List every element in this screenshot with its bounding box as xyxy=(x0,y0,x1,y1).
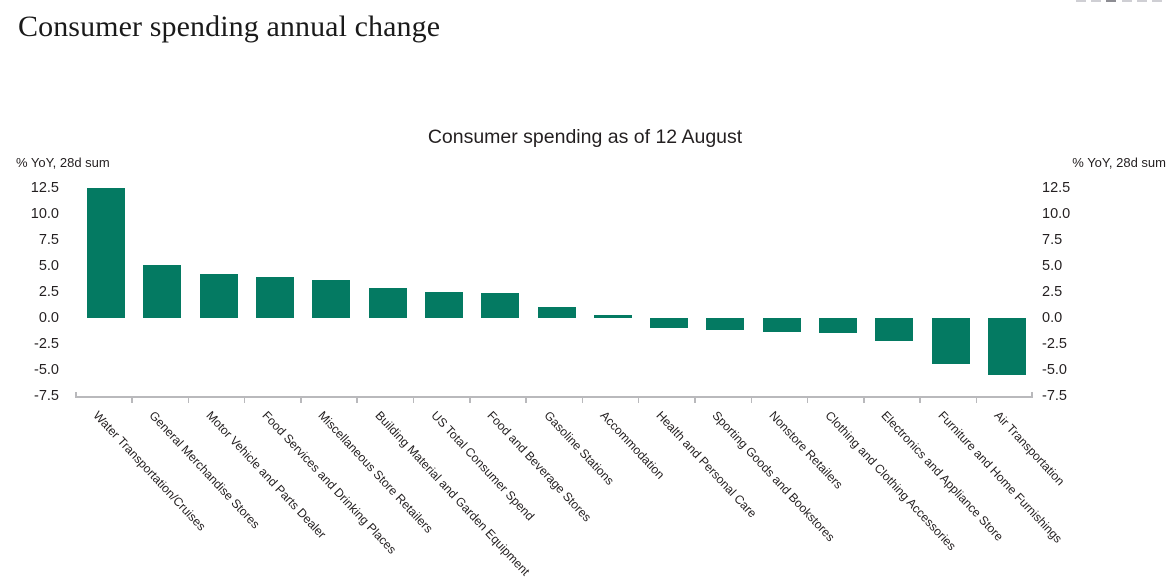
bar[interactable] xyxy=(932,318,970,364)
y-tick-label-right: 7.5 xyxy=(1042,233,1104,248)
y-tick-label-left: 10.0 xyxy=(0,207,59,222)
bar[interactable] xyxy=(706,318,744,329)
x-axis-tick xyxy=(976,397,978,403)
x-axis-tick xyxy=(525,397,527,403)
category-label: Water Transportation/Cruises xyxy=(91,409,208,533)
bar[interactable] xyxy=(312,280,350,319)
category-label: General Merchandise Stores xyxy=(148,409,263,531)
y-tick-label-left: 5.0 xyxy=(0,259,59,274)
x-axis-tick xyxy=(694,397,696,403)
x-axis-tick xyxy=(582,397,584,403)
bar[interactable] xyxy=(819,318,857,333)
bar[interactable] xyxy=(875,318,913,341)
y-tick-label-left: 2.5 xyxy=(0,285,59,300)
x-axis-tick xyxy=(863,397,865,403)
y-tick-label-right: -7.5 xyxy=(1042,389,1104,404)
bar[interactable] xyxy=(763,318,801,332)
y-tick-label-right: -5.0 xyxy=(1042,363,1104,378)
x-axis-tick xyxy=(469,397,471,403)
consumer-spending-bar-chart: Consumer spending as of 12 August % YoY,… xyxy=(0,0,1170,567)
bar[interactable] xyxy=(256,277,294,319)
y-tick-label-left: -7.5 xyxy=(0,389,59,404)
bar[interactable] xyxy=(425,292,463,318)
bar[interactable] xyxy=(538,307,576,318)
right-axis-caption: % YoY, 28d sum xyxy=(1072,155,1166,170)
y-tick-label-left: -2.5 xyxy=(0,337,59,352)
x-axis-tick xyxy=(751,397,753,403)
y-tick-label-right: 5.0 xyxy=(1042,259,1104,274)
category-label: US Total Consumer Spend xyxy=(429,409,536,523)
x-axis-tick xyxy=(244,397,246,403)
x-axis-tick xyxy=(919,397,921,403)
x-axis-tick xyxy=(413,397,415,403)
bar[interactable] xyxy=(988,318,1026,374)
bar[interactable] xyxy=(481,293,519,318)
y-tick-label-right: 0.0 xyxy=(1042,311,1104,326)
y-tick-label-right: 10.0 xyxy=(1042,207,1104,222)
category-label: Electronics and Appliance Store xyxy=(879,409,1005,543)
category-label: Food and Beverage Stores xyxy=(485,409,593,524)
bar[interactable] xyxy=(87,188,125,318)
bar[interactable] xyxy=(143,265,181,318)
x-axis-right-cap xyxy=(1031,392,1033,398)
y-tick-label-left: 12.5 xyxy=(0,181,59,196)
chart-title: Consumer spending as of 12 August xyxy=(0,126,1170,149)
x-axis-tick xyxy=(188,397,190,403)
y-tick-label-left: 7.5 xyxy=(0,233,59,248)
y-tick-label-left: -5.0 xyxy=(0,363,59,378)
category-label: Health and Personal Care xyxy=(654,409,759,520)
left-axis-caption: % YoY, 28d sum xyxy=(16,155,110,170)
x-axis-tick xyxy=(356,397,358,403)
category-label: Furniture and Home Furnishings xyxy=(936,409,1064,545)
x-axis-left-cap xyxy=(75,392,77,398)
y-tick-label-right: 2.5 xyxy=(1042,285,1104,300)
bar[interactable] xyxy=(200,274,238,319)
y-tick-label-right: 12.5 xyxy=(1042,181,1104,196)
category-label: Motor Vehicle and Parts Dealer xyxy=(204,409,328,541)
bar[interactable] xyxy=(650,318,688,327)
category-label: Sporting Goods and Bookstores xyxy=(710,409,837,544)
category-label: Miscellaneous Store Retailers xyxy=(316,409,435,535)
y-tick-label-right: -2.5 xyxy=(1042,337,1104,352)
y-tick-label-left: 0.0 xyxy=(0,311,59,326)
bar[interactable] xyxy=(369,288,407,318)
bar[interactable] xyxy=(594,315,632,318)
x-axis-tick xyxy=(807,397,809,403)
x-axis-line xyxy=(75,396,1032,398)
x-axis-tick xyxy=(638,397,640,403)
x-axis-tick xyxy=(131,397,133,403)
x-axis-tick xyxy=(300,397,302,403)
